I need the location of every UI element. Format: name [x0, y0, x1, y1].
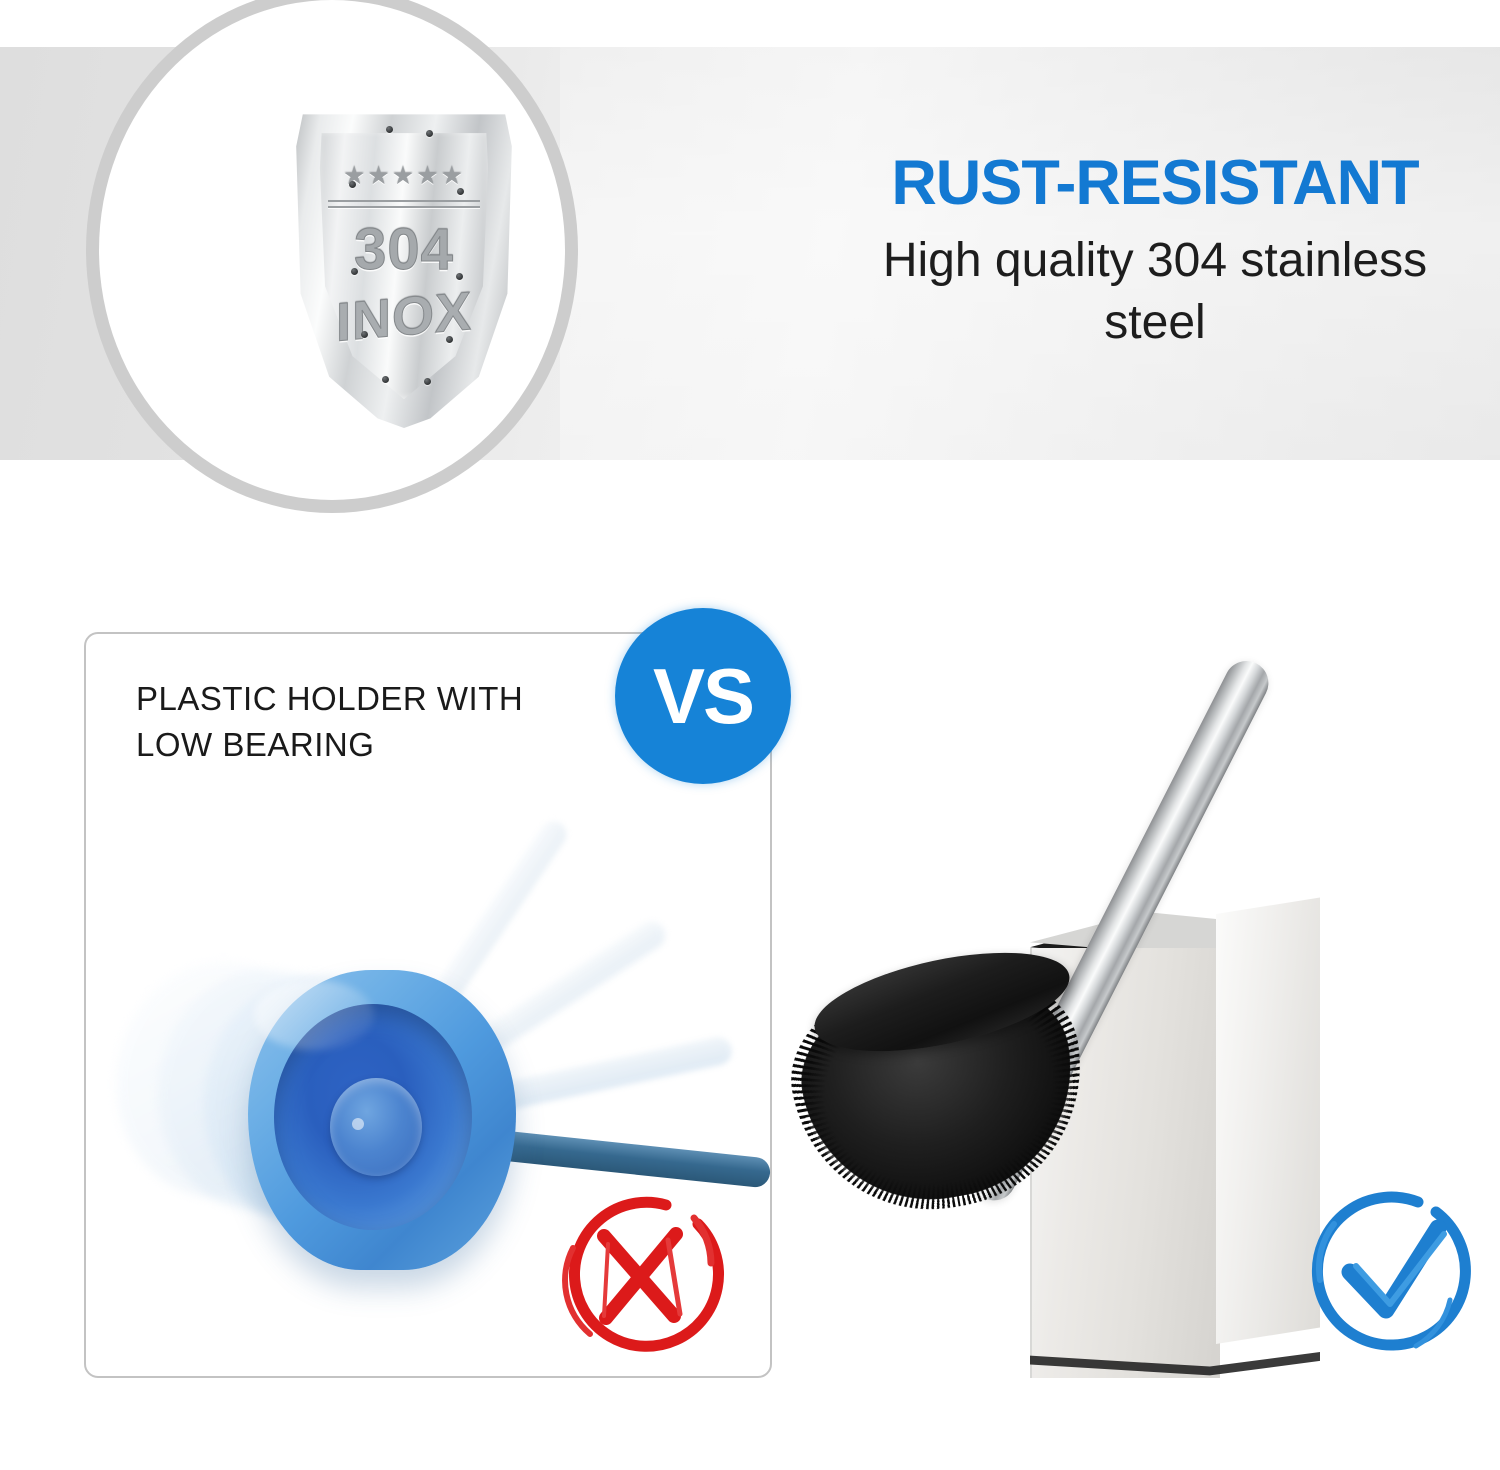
plastic-cup-highlight — [254, 980, 374, 1050]
badge-circle-frame: ★★★★★ 304 INOX — [99, 0, 565, 500]
shield-rivet — [349, 181, 356, 188]
plastic-cup-body — [248, 970, 516, 1270]
shield-grade-text: 304 — [294, 216, 514, 283]
red-x-mark-icon — [548, 1188, 728, 1368]
product-feature-image: ★★★★★ 304 INOX RUST-RESISTANT High — [0, 0, 1500, 1470]
shield-material-text: INOX — [294, 276, 514, 357]
shield-rivet — [426, 130, 433, 137]
shield-rivet — [424, 378, 431, 385]
stainless-steel-toilet-brush-icon — [790, 580, 1350, 1460]
plastic-cup-hub-dot — [352, 1118, 364, 1130]
subheadline-material: High quality 304 stainless steel — [845, 230, 1465, 353]
shield-engraving: ★★★★★ 304 INOX — [294, 108, 514, 428]
shield-rivet — [456, 273, 463, 280]
shield-304-inox-icon: ★★★★★ 304 INOX — [294, 108, 514, 428]
shield-rivet — [361, 331, 368, 338]
shield-stars: ★★★★★ — [294, 164, 514, 189]
shield-rivet — [382, 376, 389, 383]
shield-rivet — [446, 336, 453, 343]
plastic-cup-hub — [330, 1078, 422, 1176]
plastic-holder-label: PLASTIC HOLDER WITH LOW BEARING — [136, 676, 523, 767]
banner-text-block: RUST-RESISTANT High quality 304 stainles… — [845, 150, 1465, 353]
comparison-section: PLASTIC HOLDER WITH LOW BEARING — [0, 500, 1500, 1470]
shield-divider-rule — [328, 200, 480, 208]
blue-check-mark-icon — [1298, 1188, 1478, 1368]
vs-badge: VS — [615, 608, 791, 784]
shield-rivet — [386, 126, 393, 133]
shield-rivet — [457, 188, 464, 195]
top-banner: ★★★★★ 304 INOX RUST-RESISTANT High — [0, 0, 1500, 500]
headline-rust-resistant: RUST-RESISTANT — [845, 150, 1465, 216]
shield-rivet — [351, 268, 358, 275]
